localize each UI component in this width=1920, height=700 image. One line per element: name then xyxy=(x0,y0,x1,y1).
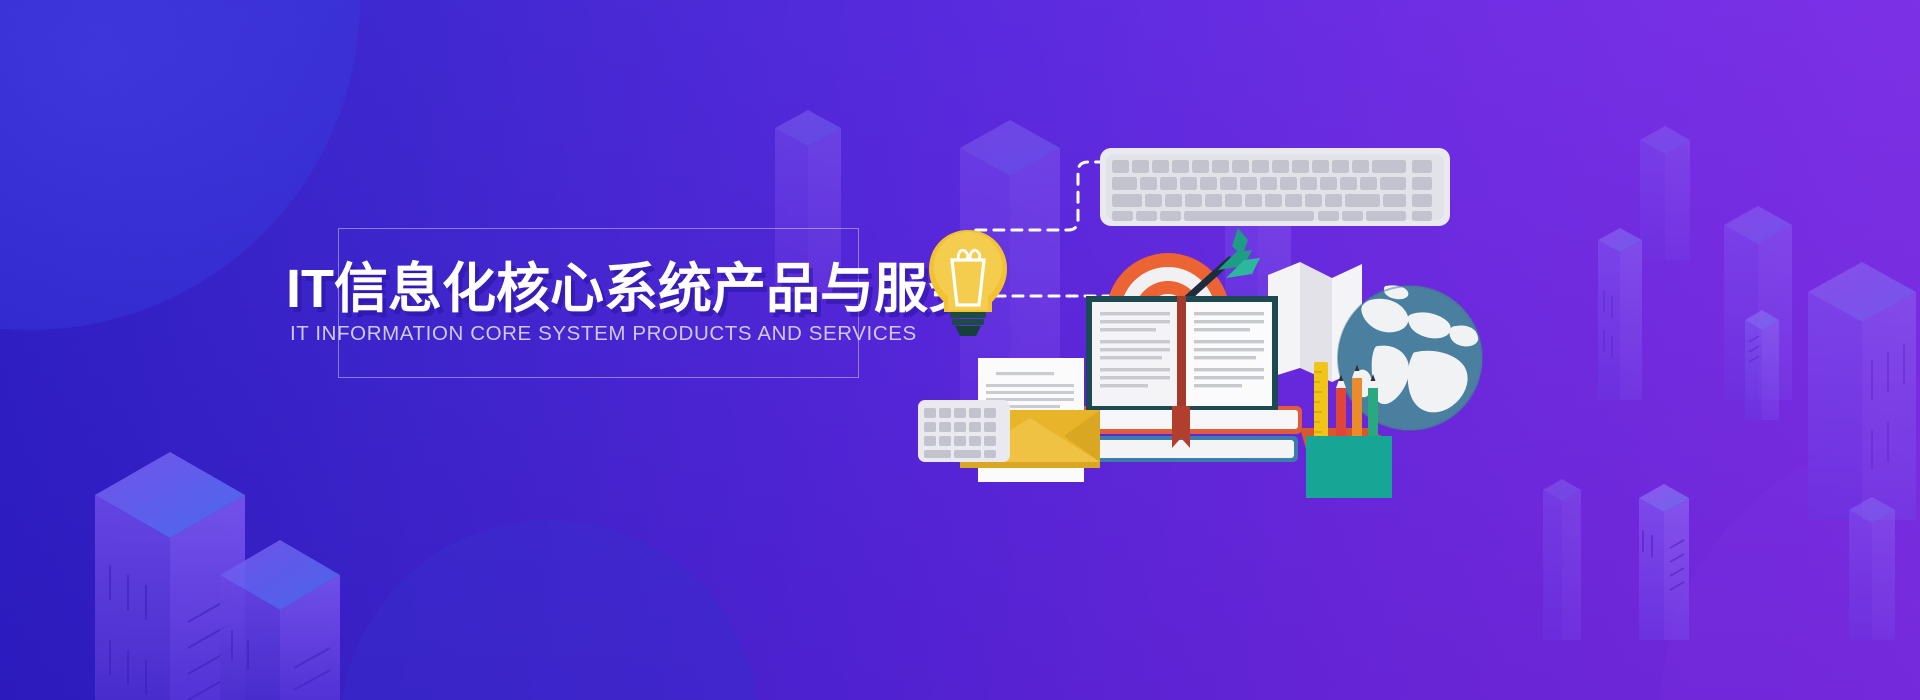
hero-illustration xyxy=(900,100,1680,520)
building-r-6 xyxy=(1849,497,1895,640)
page-subtitle: IT INFORMATION CORE SYSTEM PRODUCTS AND … xyxy=(290,322,910,346)
page-title-hitzone xyxy=(286,255,866,301)
building-r-4 xyxy=(1745,310,1779,420)
small-keyboard-icon xyxy=(918,400,1010,462)
keyboard-icon xyxy=(1100,148,1450,226)
lightbulb-icon xyxy=(929,230,1007,336)
building-r-5 xyxy=(1808,262,1916,520)
hero-banner: IT信息化核心系统产品与服务 IT INFORMATION CORE SYSTE… xyxy=(0,0,1920,700)
